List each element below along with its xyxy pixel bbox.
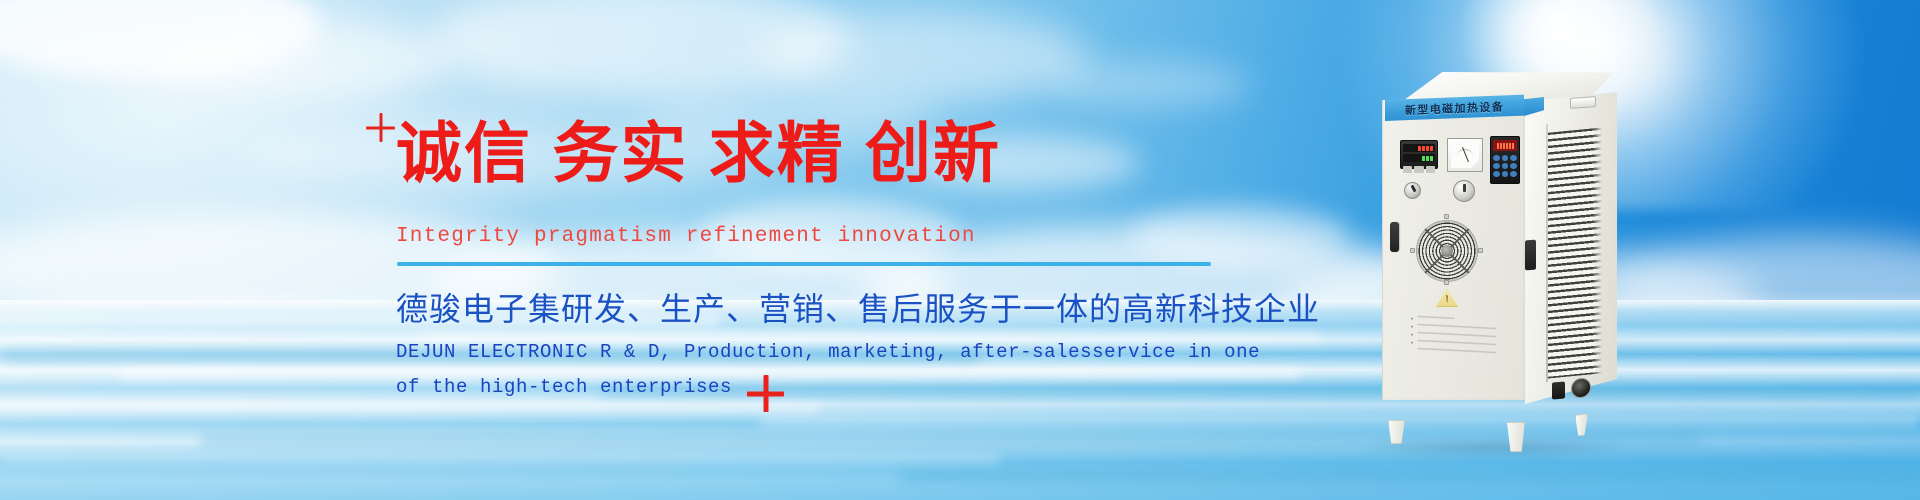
digital-controller-icon [1400, 140, 1438, 169]
ventilation-louvers-icon [1548, 127, 1602, 378]
cabinet-door-handle-icon [1390, 222, 1399, 252]
side-cable-gland [1571, 377, 1591, 399]
knob-caption: · [1408, 202, 1410, 207]
specification-plate [1418, 316, 1496, 366]
description-english-line2: of the high-tech enterprises [396, 370, 1260, 405]
meter-caption: · · [1454, 174, 1459, 179]
plus-mark-icon-top [366, 113, 395, 142]
side-nameplate [1570, 96, 1596, 109]
fan-screw [1444, 214, 1449, 219]
rotary-knob-icon [1453, 180, 1475, 202]
description-english: DEJUN ELECTRONIC R & D, Production, mark… [396, 335, 1260, 405]
promotional-banner: 诚信 务实 求精 创新 Integrity pragmatism refinem… [0, 0, 1920, 500]
divider-rule [397, 262, 1211, 266]
selector-knob-icon [1404, 182, 1421, 199]
side-connector-port [1552, 381, 1565, 399]
controller-caption: · · · [1406, 172, 1414, 177]
ground-shadow [1370, 440, 1620, 456]
fan-hub [1416, 220, 1478, 282]
headline-english: Integrity pragmatism refinement innovati… [396, 225, 976, 248]
description-chinese: 德骏电子集研发、生产、营销、售后服务于一体的高新科技企业 [396, 284, 1320, 330]
description-english-line1: DEJUN ELECTRONIC R & D, Production, mark… [396, 335, 1260, 370]
fan-screw [1478, 248, 1483, 253]
side-door-handle-icon [1525, 240, 1536, 271]
headline-chinese: 诚信 务实 求精 创新 [396, 120, 1001, 186]
product-image-heating-cabinet: 新型电磁加热设备 · · · · · · [1370, 72, 1632, 422]
control-keypad-icon [1490, 136, 1520, 184]
fan-screw [1410, 248, 1415, 253]
analog-meter-icon [1447, 138, 1483, 172]
machine-banner-text: 新型电磁加热设备 [1405, 98, 1504, 118]
fan-screw [1444, 280, 1449, 285]
